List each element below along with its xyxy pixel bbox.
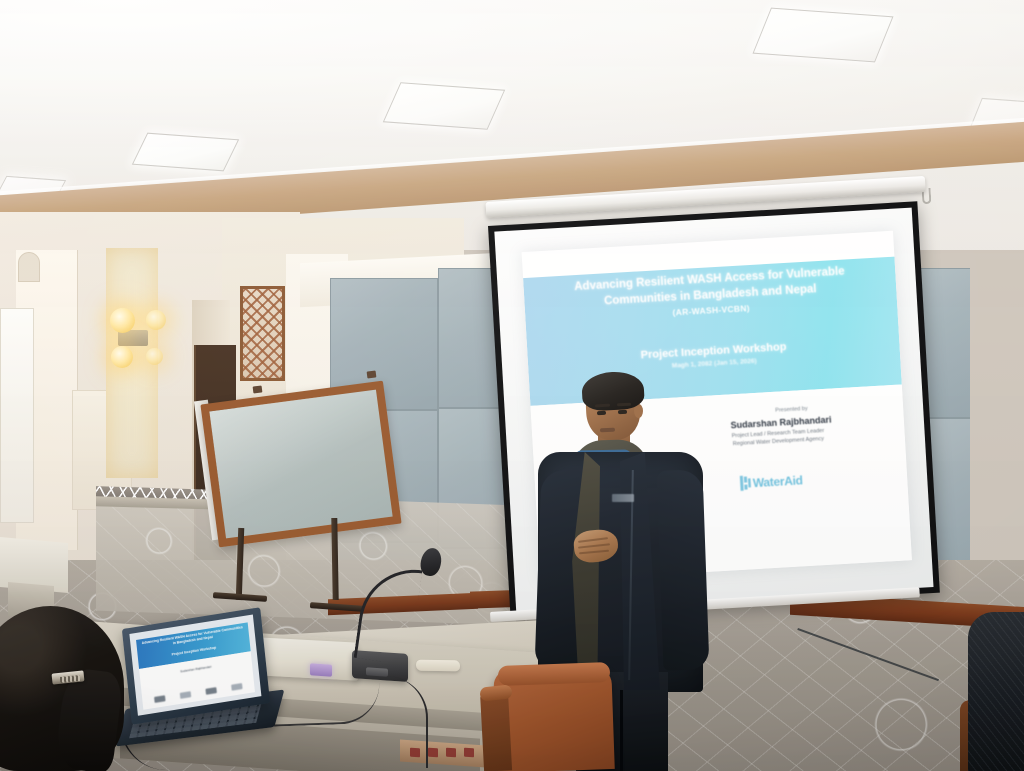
- projector-unit: [258, 637, 359, 680]
- laptop-screen: Advancing Resilient WASH Access for Vuln…: [129, 614, 261, 715]
- remote-control[interactable]: [416, 660, 460, 672]
- white-door: [0, 308, 34, 523]
- power-socket-icon[interactable]: [464, 748, 474, 758]
- presenter-eye: [597, 411, 606, 415]
- lattice-screen-panel: [240, 286, 285, 381]
- partner-logo-icon: [180, 691, 191, 699]
- whiteboard: [200, 381, 401, 548]
- whiteboard-clip-icon: [253, 385, 263, 393]
- light-bulb-icon: [110, 308, 135, 333]
- armchair-crest-rail: [498, 662, 611, 686]
- microphone-talk-button[interactable]: [366, 667, 388, 677]
- partner-logo-icon: [154, 696, 165, 704]
- power-socket-icon[interactable]: [446, 748, 456, 758]
- presenter-mouth: [600, 428, 615, 433]
- ceiling-light-panel-icon: [383, 82, 505, 130]
- wateraid-logo: WaterAid: [739, 472, 803, 491]
- conference-room-photo: Advancing Resilient WASH Access for Vuln…: [0, 0, 1024, 771]
- wall-arch-niche: [18, 252, 40, 282]
- wateraid-wordmark: WaterAid: [752, 473, 803, 490]
- light-bulb-icon: [146, 310, 166, 330]
- light-bulb-icon: [146, 348, 163, 365]
- seated-person-right-texture: [968, 612, 1024, 771]
- partner-logo-icon: [232, 683, 243, 691]
- whiteboard-clip-icon: [367, 370, 377, 378]
- presenter-eyebrow: [617, 403, 631, 406]
- armchair-arm: [480, 689, 512, 771]
- presenter-jacket-logo: [612, 494, 634, 502]
- presenter-eye: [618, 410, 627, 414]
- ceiling-light-panel-icon: [132, 133, 239, 172]
- wateraid-mark-icon: [739, 475, 751, 491]
- partner-logo-icon: [206, 687, 217, 695]
- ceiling-light-panel-icon: [752, 8, 893, 63]
- projector-lens-panel: [310, 663, 332, 677]
- power-socket-icon[interactable]: [428, 748, 438, 758]
- presenter-leg-separation: [620, 690, 623, 771]
- presenter-right-arm: [657, 469, 710, 670]
- light-bulb-icon: [111, 346, 133, 368]
- whiteboard-surface: [209, 390, 392, 539]
